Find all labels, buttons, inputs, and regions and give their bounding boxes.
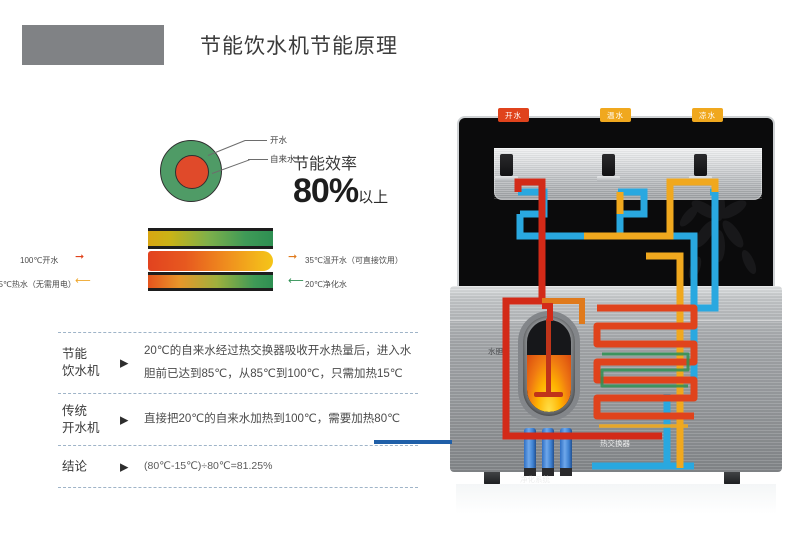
boiling-water-label: 开水 xyxy=(270,134,287,146)
table-row: 结论 ▶ (80℃-15℃)÷80℃=81.25% xyxy=(58,445,418,488)
leader-line-tap-h xyxy=(248,159,268,160)
hx-left-label-0: 100℃开水 xyxy=(20,255,58,266)
row-label-line2: 饮水机 xyxy=(62,364,100,378)
hx-cap-upper-mid xyxy=(148,246,273,249)
hx-bar-upper xyxy=(148,231,273,246)
part-label-tank: 水胆 xyxy=(488,346,503,357)
pipe-network xyxy=(432,96,800,516)
water-circle-diagram xyxy=(160,140,226,206)
hx-right-arrow-0: ➞ xyxy=(288,252,297,263)
comparison-table: 节能 饮水机 ▶ 20℃的自来水经过热交换器吸收开水热量后，进入水胆前已达到85… xyxy=(58,332,418,488)
tap-water-core xyxy=(175,155,209,189)
part-label-heat-exchanger: 热交换器 xyxy=(600,438,630,449)
left-content-column: 开水 自来水 节能效率 80%以上 100℃开水 ➞ 85℃热水（无需用电） ⟵… xyxy=(0,100,450,541)
row-label-line1: 传统 xyxy=(62,404,87,418)
row-arrow-icon: ▶ xyxy=(120,357,128,370)
hx-cap-bottom xyxy=(148,288,273,291)
efficiency-label: 节能效率 xyxy=(293,150,357,174)
heat-exchanger-bars xyxy=(148,228,273,290)
hx-bar-middle xyxy=(148,251,273,271)
row-label-line2: 开水机 xyxy=(62,421,100,435)
row-arrow-icon: ▶ xyxy=(120,460,128,473)
row-arrow-icon: ▶ xyxy=(120,413,128,426)
page-title: 节能饮水机节能原理 xyxy=(200,30,398,60)
leader-line-boiling-h xyxy=(245,140,267,141)
efficiency-value-row: 80%以上 xyxy=(293,172,388,211)
part-label-purification: 净化系统 xyxy=(520,474,550,485)
row-label: 节能 饮水机 xyxy=(62,346,100,380)
hx-right-label-1: 20℃净化水 xyxy=(305,279,347,290)
hx-right-label-0: 35℃温开水（可直接饮用） xyxy=(305,255,403,266)
hx-left-label-1: 85℃热水（无需用电） xyxy=(0,279,76,290)
pipe-warm-upper xyxy=(584,182,715,236)
hx-bar-lower xyxy=(148,275,273,288)
header-accent-block xyxy=(22,25,164,65)
coil-hot-path xyxy=(597,308,694,416)
table-row: 传统 开水机 ▶ 直接把20℃的自来水加热到100℃，需要加热80℃ xyxy=(58,393,418,445)
efficiency-suffix: 以上 xyxy=(358,189,388,206)
page-header: 节能饮水机节能原理 xyxy=(0,0,800,100)
pipe-tank-feed xyxy=(542,306,550,321)
hx-right-arrow-1: ⟵ xyxy=(288,276,304,287)
row-label-line1: 节能 xyxy=(62,347,87,361)
row-text: 20℃的自来水经过热交换器吸收开水热量后，进入水胆前已达到85℃，从85℃到10… xyxy=(144,333,418,393)
row-label-line1: 结论 xyxy=(62,459,87,473)
water-dispenser-illustration: 开水 温水 凉水 xyxy=(432,96,800,516)
tap-water-label: 自来水 xyxy=(270,153,296,165)
hx-left-arrow-1: ⟵ xyxy=(75,276,91,287)
row-label: 传统 开水机 xyxy=(62,403,100,437)
row-label: 结论 xyxy=(62,458,87,475)
efficiency-value: 80% xyxy=(293,172,358,210)
row-text: 直接把20℃的自来水加热到100℃，需要加热80℃ xyxy=(144,394,418,445)
table-row: 节能 饮水机 ▶ 20℃的自来水经过热交换器吸收开水热量后，进入水胆前已达到85… xyxy=(58,332,418,393)
row-text: (80℃-15℃)÷80℃=81.25% xyxy=(144,446,418,487)
hx-left-arrow-0: ➞ xyxy=(75,252,84,263)
